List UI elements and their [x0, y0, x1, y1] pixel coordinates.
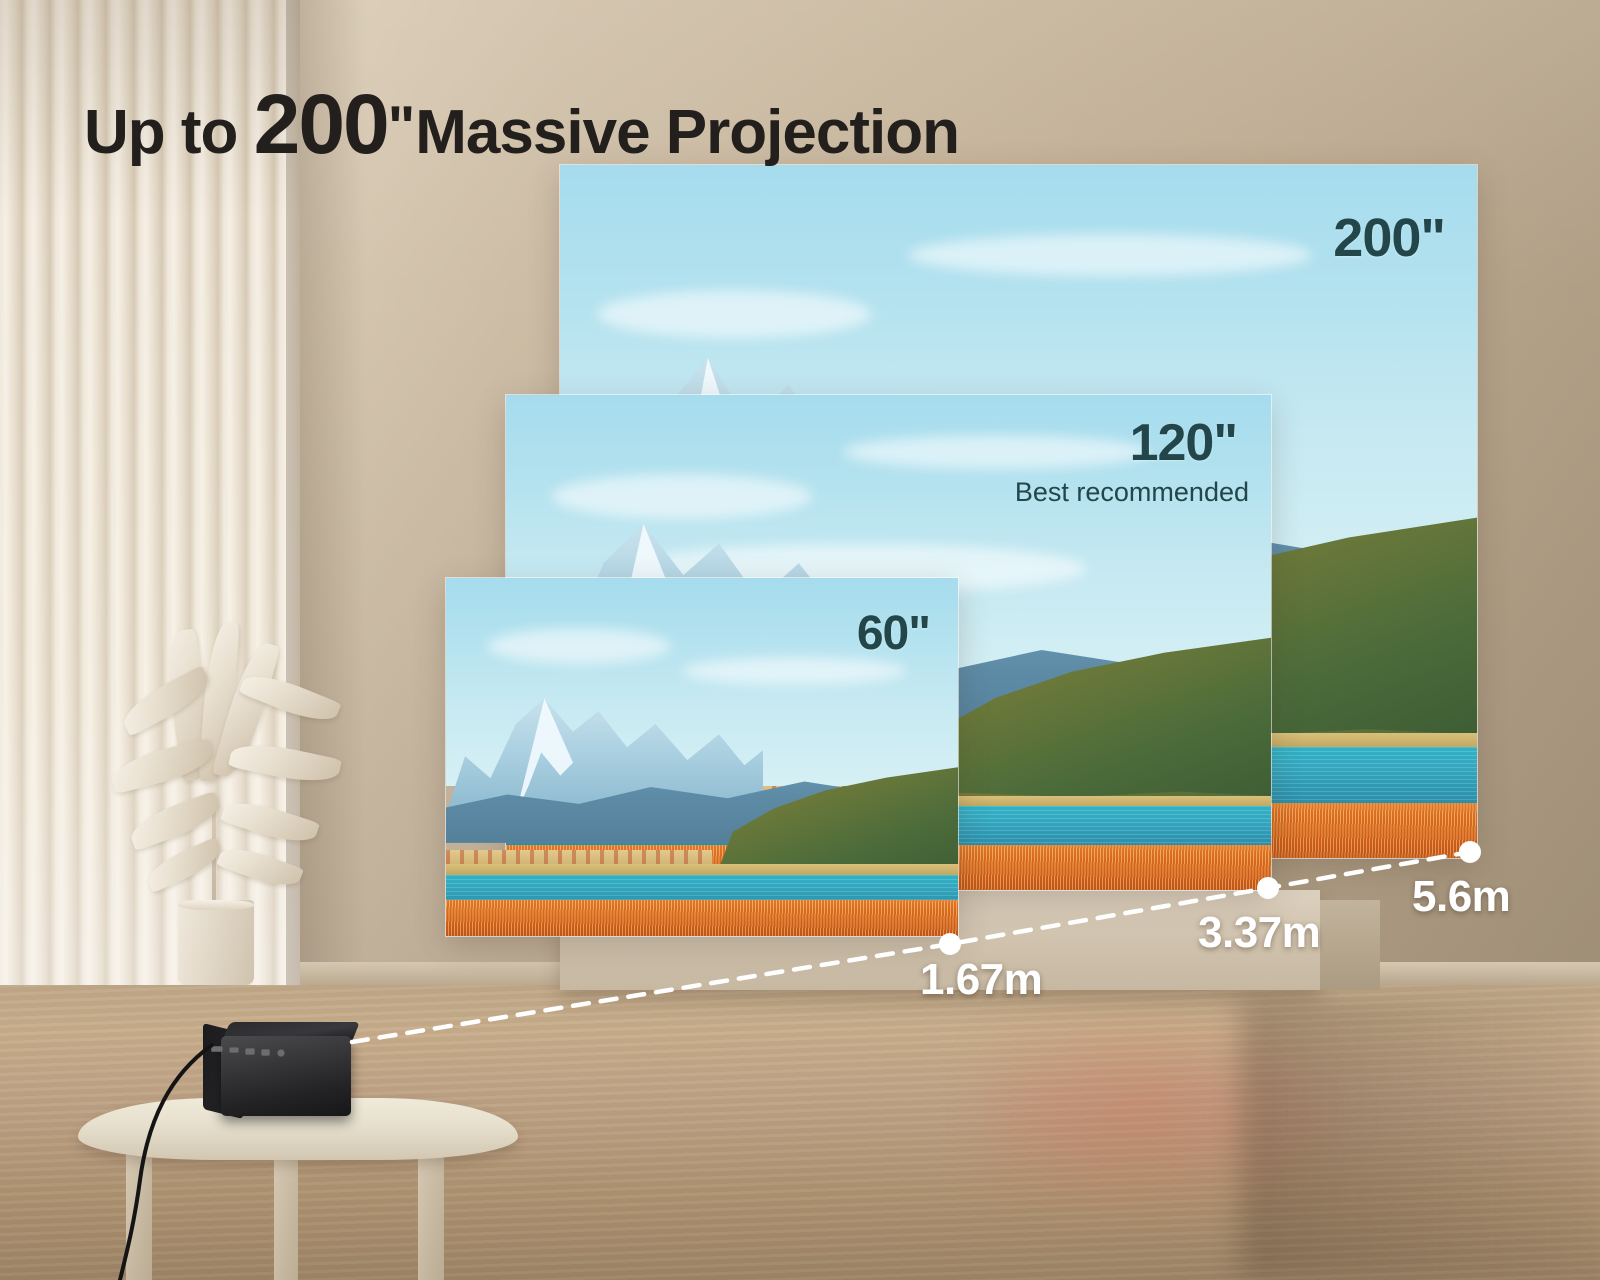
usb-port-icon: [245, 1048, 255, 1055]
headline-suffix: Massive Projection: [415, 98, 959, 167]
headline-space: [237, 98, 253, 167]
floor-shadow: [1240, 1000, 1600, 1280]
round-side-table: [78, 1098, 518, 1218]
shoreline: [446, 864, 958, 875]
media-ledge-side: [1320, 900, 1380, 990]
cloud: [843, 435, 1149, 470]
inch-quote: ": [1213, 414, 1237, 472]
aux-port-icon: [261, 1049, 270, 1056]
headline-size: 200: [254, 77, 388, 171]
hdmi-port-icon: [211, 1046, 223, 1052]
screen-size-label-60: 60": [857, 606, 930, 661]
cloud: [597, 290, 872, 339]
projection-screen-60[interactable]: 60": [446, 578, 958, 936]
headline-inch-quote: ": [388, 95, 416, 160]
table-leg: [274, 1150, 298, 1280]
product-marketing-image: 200" 120" Best recommended: [0, 0, 1600, 1280]
usb-port-icon: [229, 1047, 239, 1053]
screen-size-sublabel-120: Best recommended: [1015, 477, 1249, 508]
plant-leaf: [216, 840, 304, 893]
portable-projector[interactable]: [203, 1018, 351, 1116]
screen-size-label-120: 120": [1130, 413, 1237, 473]
cloud: [908, 234, 1311, 276]
power-port-icon: [277, 1049, 285, 1057]
cloud: [487, 628, 671, 664]
plant-pot: [178, 900, 254, 985]
cloud: [682, 657, 907, 686]
decorative-plant: [80, 600, 360, 1000]
plant-leaf: [108, 738, 217, 794]
size-value: 120: [1130, 414, 1214, 472]
inch-quote: ": [1420, 208, 1445, 268]
table-leg: [418, 1144, 444, 1280]
distance-label-5-6m: 5.6m: [1412, 872, 1510, 922]
reed-field: [446, 900, 958, 936]
inch-quote: ": [908, 607, 930, 660]
screen-size-label-200: 200": [1333, 207, 1445, 269]
size-value: 60: [857, 607, 908, 660]
table-leg: [126, 1144, 152, 1280]
page-title: Up to 200"Massive Projection: [84, 76, 959, 173]
cloud: [552, 474, 812, 519]
plant-leaf: [220, 794, 320, 850]
headline-prefix: Up to: [84, 98, 237, 167]
distance-label-3-37m: 3.37m: [1198, 908, 1320, 958]
size-value: 200: [1333, 208, 1420, 268]
projector-body: [221, 1036, 351, 1116]
distance-label-1-67m: 1.67m: [920, 955, 1042, 1005]
